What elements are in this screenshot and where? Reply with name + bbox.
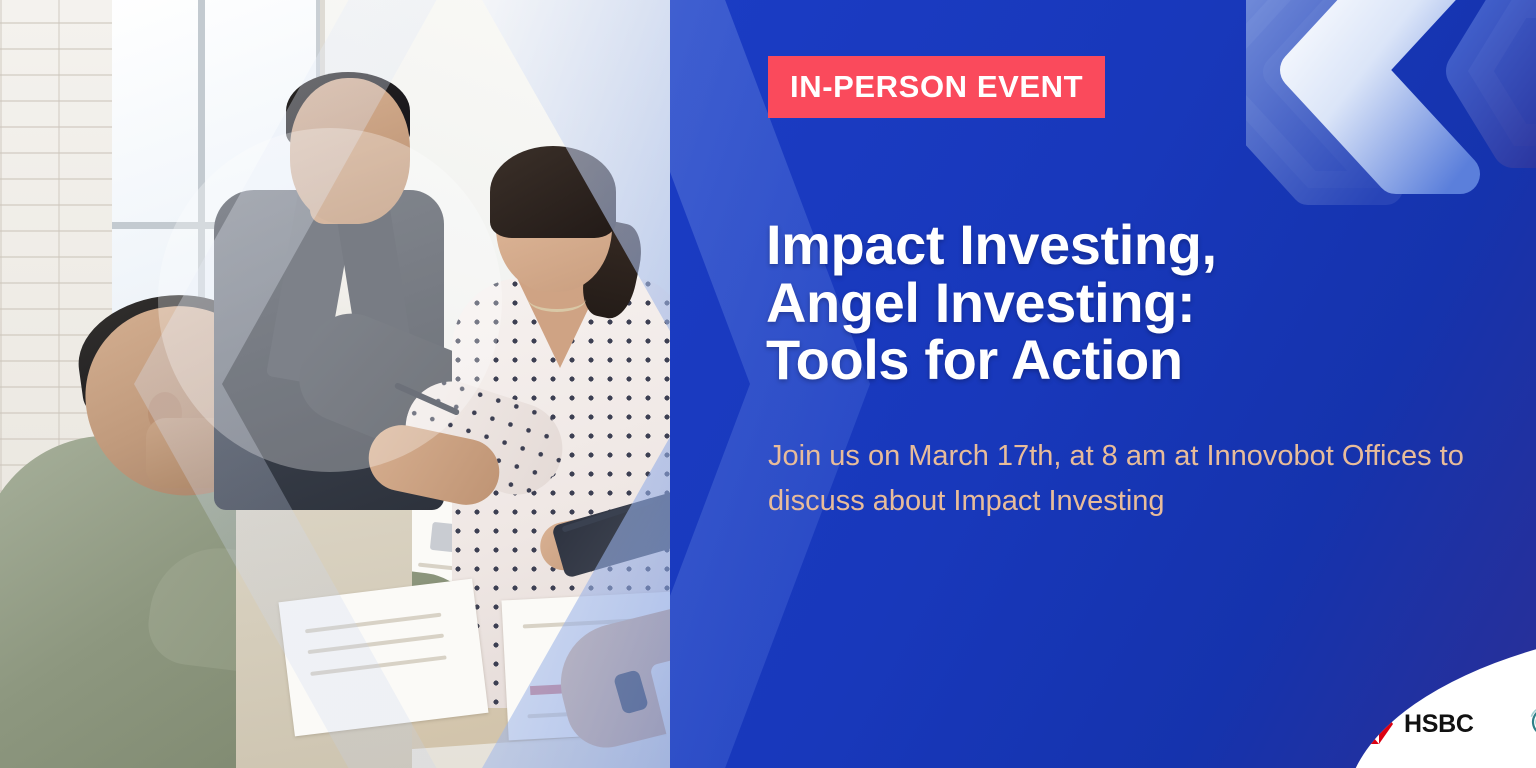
standing-man-head xyxy=(290,78,410,224)
sponsors-panel: Brought to you by HSBC xyxy=(1346,620,1536,768)
event-banner: IN-PERSON EVENT Impact Investing, Angel … xyxy=(0,0,1536,768)
hsbc-hexagon-icon xyxy=(1346,704,1393,744)
event-photo xyxy=(0,0,670,768)
event-type-badge: IN-PERSON EVENT xyxy=(768,56,1105,118)
foresight-swirl-icon xyxy=(1528,704,1536,745)
event-details-text: Join us on March 17th, at 8 am at Innovo… xyxy=(768,434,1468,524)
sponsor-logo-row: HSBC FORESIGHT CANADA xyxy=(1346,694,1536,754)
title-line-2: Angel Investing: xyxy=(766,274,1466,332)
hsbc-wordmark: HSBC xyxy=(1404,710,1474,739)
woman-necklace xyxy=(528,286,586,312)
paper-notes xyxy=(279,579,489,737)
sponsors-heading: Brought to you by xyxy=(1346,646,1536,674)
page-title: Impact Investing, Angel Investing: Tools… xyxy=(766,216,1466,389)
title-line-3: Tools for Action xyxy=(766,331,1466,389)
sponsor-logo-hsbc[interactable]: HSBC xyxy=(1346,704,1474,744)
woman-hair xyxy=(490,146,616,238)
title-line-1: Impact Investing, xyxy=(766,216,1466,274)
sponsor-logo-foresight-canada[interactable]: FORESIGHT CANADA xyxy=(1528,704,1536,745)
content-panel: IN-PERSON EVENT Impact Investing, Angel … xyxy=(670,0,1536,768)
